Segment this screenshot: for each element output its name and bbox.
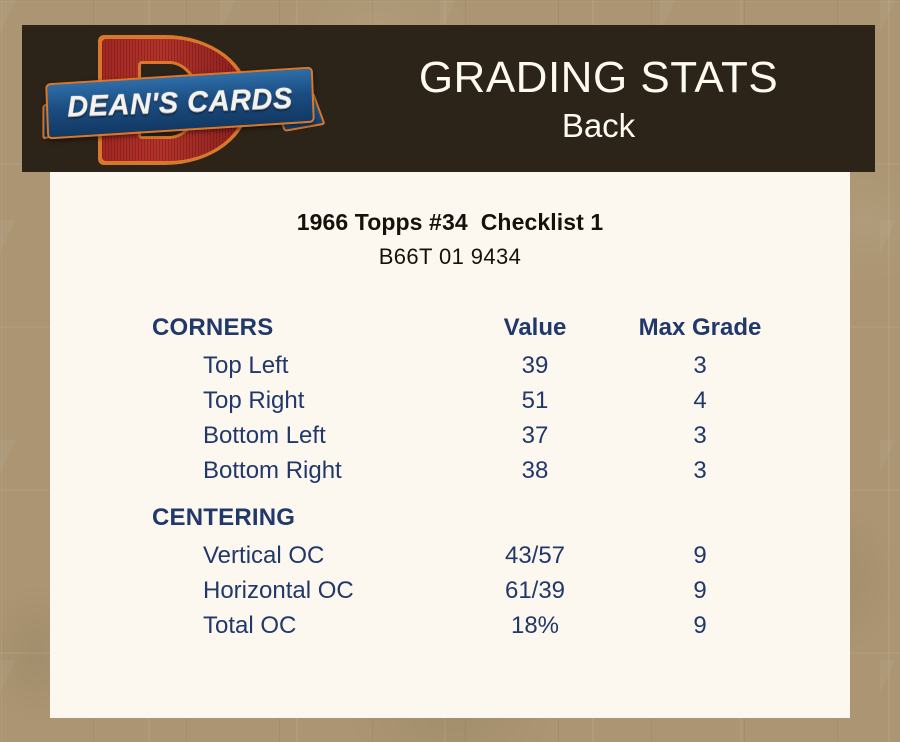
section-spacer xyxy=(50,492,850,504)
table-row: Total OC 18% 9 xyxy=(50,612,850,647)
header-titles: GRADING STATS Back xyxy=(322,25,875,172)
row-max-grade: 3 xyxy=(610,422,790,450)
row-value: 61/39 xyxy=(460,577,610,605)
row-label: Top Right xyxy=(50,387,460,415)
column-header-value: Value xyxy=(460,314,610,342)
row-label: Horizontal OC xyxy=(50,577,460,605)
row-value: 43/57 xyxy=(460,542,610,570)
grading-stats-table: CORNERS Value Max Grade Top Left 39 3 To… xyxy=(50,314,850,647)
row-value: 38 xyxy=(460,457,610,485)
deans-cards-logo[interactable]: DEAN'S CARDS xyxy=(46,31,314,167)
page-subtitle: Back xyxy=(562,106,635,146)
table-header-row: CORNERS Value Max Grade xyxy=(50,314,850,352)
row-max-grade: 3 xyxy=(610,352,790,380)
section-title-corners: CORNERS xyxy=(50,314,460,342)
logo-wordmark: DEAN'S CARDS xyxy=(45,70,315,136)
content-panel: 1966 Topps #34 Checklist 1 B66T 01 9434 … xyxy=(50,172,850,718)
page-title: GRADING STATS xyxy=(419,52,778,104)
row-label: Total OC xyxy=(50,612,460,640)
grading-stats-page: DEAN'S CARDS GRADING STATS Back 1966 Top… xyxy=(0,0,900,742)
row-label: Vertical OC xyxy=(50,542,460,570)
row-value: 18% xyxy=(460,612,610,640)
table-row: Top Right 51 4 xyxy=(50,387,850,422)
row-label: Top Left xyxy=(50,352,460,380)
section-title-centering: CENTERING xyxy=(50,504,460,532)
card-title: 1966 Topps #34 Checklist 1 xyxy=(50,209,850,236)
row-max-grade: 9 xyxy=(610,577,790,605)
logo-ribbon-banner: DEAN'S CARDS xyxy=(46,75,314,131)
row-value: 39 xyxy=(460,352,610,380)
table-row: Vertical OC 43/57 9 xyxy=(50,542,850,577)
section-header-row: CENTERING xyxy=(50,504,850,542)
column-header-max-grade: Max Grade xyxy=(610,314,790,342)
table-row: Horizontal OC 61/39 9 xyxy=(50,577,850,612)
row-value: 37 xyxy=(460,422,610,450)
row-label: Bottom Right xyxy=(50,457,460,485)
table-row: Bottom Right 38 3 xyxy=(50,457,850,492)
header-bar: DEAN'S CARDS GRADING STATS Back xyxy=(22,25,875,172)
row-label: Bottom Left xyxy=(50,422,460,450)
card-serial-number: B66T 01 9434 xyxy=(50,244,850,270)
row-value: 51 xyxy=(460,387,610,415)
table-row: Bottom Left 37 3 xyxy=(50,422,850,457)
row-max-grade: 4 xyxy=(610,387,790,415)
row-max-grade: 3 xyxy=(610,457,790,485)
table-row: Top Left 39 3 xyxy=(50,352,850,387)
row-max-grade: 9 xyxy=(610,612,790,640)
row-max-grade: 9 xyxy=(610,542,790,570)
